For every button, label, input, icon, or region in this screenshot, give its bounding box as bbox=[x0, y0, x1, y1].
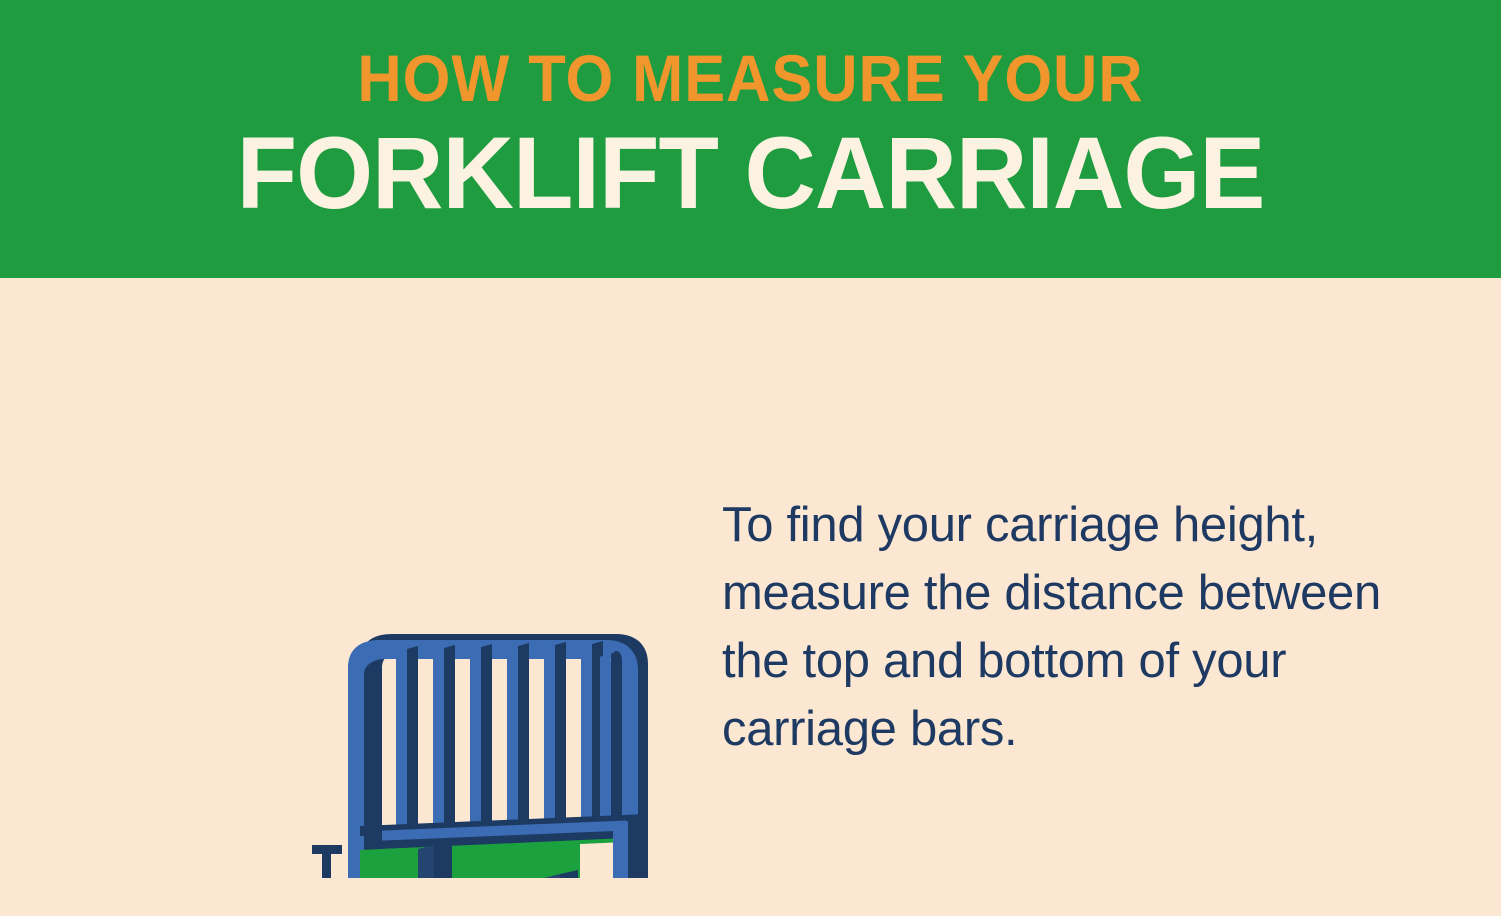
header-banner: HOW TO MEASURE YOUR FORKLIFT CARRIAGE bbox=[0, 0, 1501, 278]
forklift-carriage-illustration: A bbox=[60, 318, 700, 878]
page-title: FORKLIFT CARRIAGE bbox=[23, 118, 1479, 228]
backrest-bar-5 bbox=[544, 642, 566, 846]
carriage-right-post-light-overlay bbox=[613, 821, 628, 878]
backrest-bar-1 bbox=[396, 646, 418, 834]
content-area: A To find your carriage height, measure … bbox=[0, 278, 1501, 916]
instruction-paragraph: To find your carriage height, measure th… bbox=[722, 491, 1422, 763]
backrest-bar-3 bbox=[470, 644, 492, 840]
header-eyebrow: HOW TO MEASURE YOUR bbox=[53, 44, 1449, 112]
backrest-bar-4 bbox=[507, 643, 529, 843]
infographic-page: HOW TO MEASURE YOUR FORKLIFT CARRIAGE bbox=[0, 0, 1501, 916]
backrest-bar-2 bbox=[433, 645, 455, 837]
carriage-right-post-navy-overlay bbox=[628, 814, 648, 878]
dimension-marker-a: A bbox=[312, 845, 342, 878]
